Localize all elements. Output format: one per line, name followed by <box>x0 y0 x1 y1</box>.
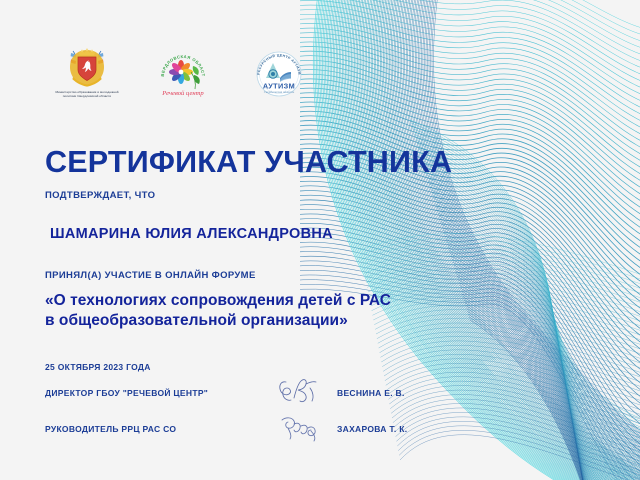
handwritten-signature-icon <box>270 376 340 410</box>
autism-seal-icon: РЕСУРСНЫЙ ЦЕНТР АУТИЗМ АУТИЗМ Свердловск… <box>253 48 305 100</box>
svg-text:Речевой центр: Речевой центр <box>161 90 204 97</box>
handwritten-signature-icon <box>270 412 340 446</box>
signature-role-head: РУКОВОДИТЕЛЬ РРЦ РАС СО <box>45 424 176 434</box>
logo-speech-center: СВЕРДЛОВСКАЯ ОБЛАСТЬ <box>144 48 222 102</box>
certificate-document: Министерство образования и молодежной по… <box>0 0 640 480</box>
signature-person-head: ЗАХАРОВА Т. К. <box>337 424 407 434</box>
signature-row-director: ДИРЕКТОР ГБОУ "РЕЧЕВОЙ ЦЕНТР" ВЕСНИНА Е.… <box>45 386 445 408</box>
logo-autism-center: РЕСУРСНЫЙ ЦЕНТР АУТИЗМ АУТИЗМ Свердловск… <box>240 48 318 102</box>
flower-circle-icon: СВЕРДЛОВСКАЯ ОБЛАСТЬ <box>157 48 209 100</box>
signature-role-director: ДИРЕКТОР ГБОУ "РЕЧЕВОЙ ЦЕНТР" <box>45 388 208 398</box>
signature-row-head: РУКОВОДИТЕЛЬ РРЦ РАС СО ЗАХАРОВА Т. К. <box>45 422 445 444</box>
coat-of-arms-icon <box>64 48 110 88</box>
issue-date: 25 ОКТЯБРЯ 2023 ГОДА <box>45 362 151 372</box>
page-title: СЕРТИФИКАТ УЧАСТНИКА <box>45 145 452 180</box>
event-title-line-2: в общеобразовательной организации» <box>45 311 391 331</box>
svg-text:Свердловская область: Свердловская область <box>264 90 295 94</box>
logo-row: Министерство образования и молодежной по… <box>48 48 318 102</box>
logo-ministry-caption: Министерство образования и молодежной по… <box>50 90 124 99</box>
logo-ministry: Министерство образования и молодежной по… <box>48 48 126 99</box>
guilloche-decoration <box>300 0 640 480</box>
svg-text:АУТИЗМ: АУТИЗМ <box>263 82 295 91</box>
signature-person-director: ВЕСНИНА Е. В. <box>337 388 405 398</box>
event-title: «О технологиях сопровождения детей с РАС… <box>45 291 391 332</box>
participation-label: ПРИНЯЛ(А) УЧАСТИЕ В ОНЛАЙН ФОРУМЕ <box>45 270 256 281</box>
event-title-line-1: «О технологиях сопровождения детей с РАС <box>45 291 391 311</box>
participant-name: ШАМАРИНА ЮЛИЯ АЛЕКСАНДРОВНА <box>50 226 333 242</box>
confirms-label: ПОДТВЕРЖДАЕТ, ЧТО <box>45 190 155 201</box>
